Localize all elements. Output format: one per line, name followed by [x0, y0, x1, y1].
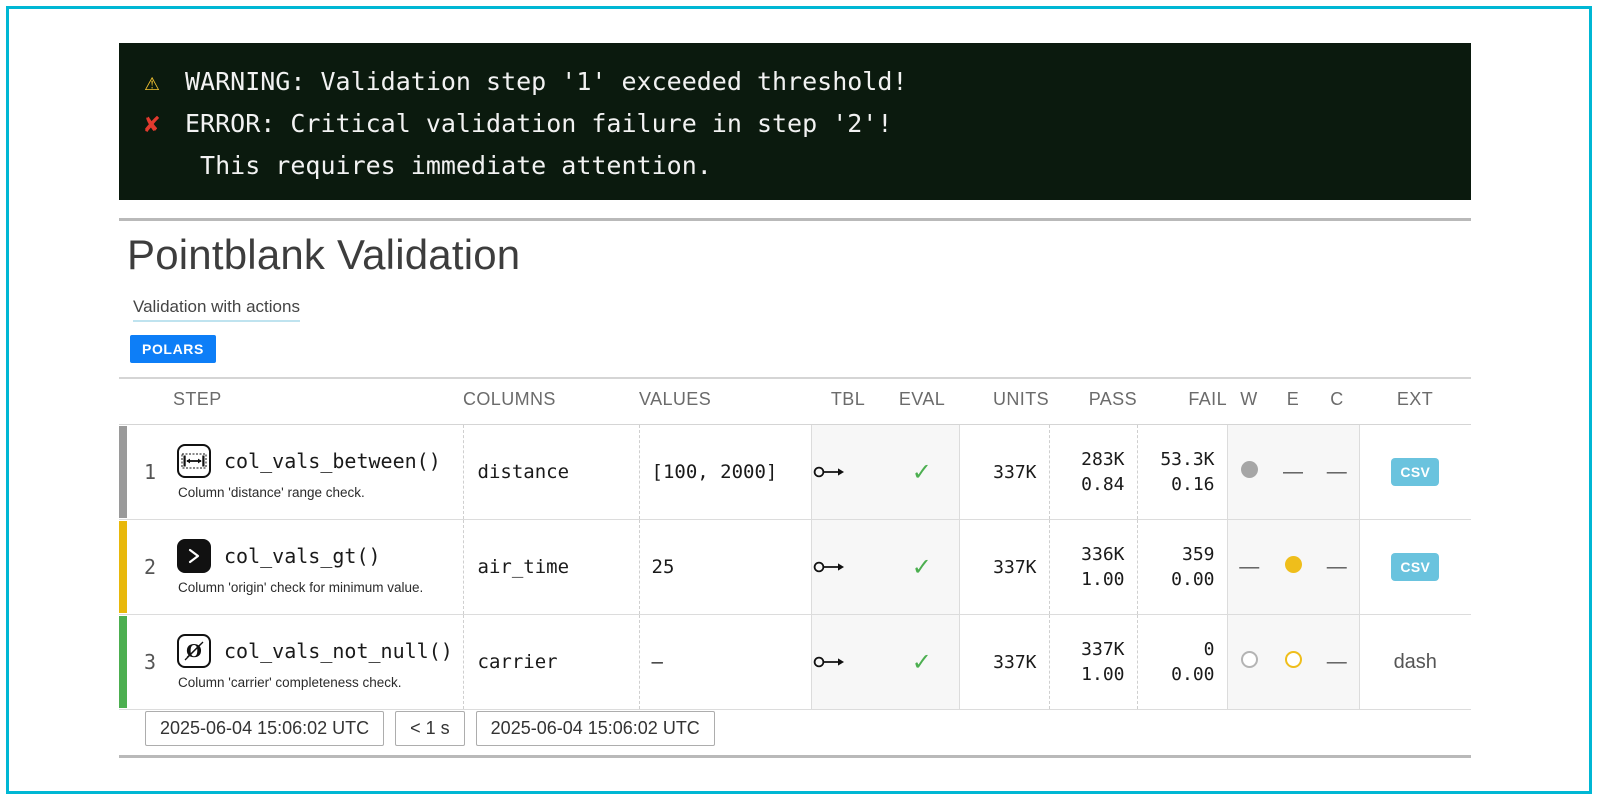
eval-cell: ✓	[885, 425, 959, 520]
tbl-cell	[811, 615, 885, 710]
row-status-bar	[119, 425, 127, 520]
units-value: 337K	[959, 520, 1049, 615]
table-row[interactable]: 1 col_vals	[119, 425, 1471, 520]
check-icon: ✓	[912, 554, 932, 581]
pass-fraction: 1.00	[1051, 567, 1125, 592]
row-index: 3	[127, 615, 173, 710]
fail-cell: 0 0.00	[1137, 615, 1227, 710]
extract-cell: CSV	[1359, 425, 1471, 520]
critical-status-cell: —	[1315, 425, 1359, 520]
header-divider-top	[119, 218, 1471, 221]
column-header-pass: PASS	[1049, 378, 1137, 425]
column-header-tbl: TBL	[811, 378, 885, 425]
circle-arrow-icon	[813, 464, 885, 480]
end-time-box: 2025-06-04 15:06:02 UTC	[476, 711, 715, 746]
column-header-e: E	[1271, 378, 1315, 425]
step-name: col_vals_not_null()	[224, 639, 453, 663]
not-null-icon: Ø	[177, 634, 211, 668]
footer-divider-bottom	[119, 755, 1471, 758]
table-footer: 2025-06-04 15:06:02 UTC < 1 s 2025-06-04…	[119, 705, 1471, 751]
fail-count: 53.3K	[1139, 447, 1215, 472]
critical-status-cell: —	[1315, 520, 1359, 615]
table-row[interactable]: 3 Ø col_vals_not_null() Column 'carrier'…	[119, 615, 1471, 710]
units-value: 337K	[959, 425, 1049, 520]
fail-count: 0	[1139, 637, 1215, 662]
critical-status-cell: —	[1315, 615, 1359, 710]
console-line-error: ✘ ERROR: Critical validation failure in …	[119, 103, 1471, 145]
units-value: 337K	[959, 615, 1049, 710]
console-warning-text: WARNING: Validation step '1' exceeded th…	[185, 61, 1471, 103]
fail-count: 359	[1139, 542, 1215, 567]
step-description: Column 'carrier' completeness check.	[177, 675, 462, 690]
gray-open-dot-icon	[1241, 651, 1258, 668]
error-status-cell: —	[1271, 425, 1315, 520]
column-header-values: VALUES	[639, 378, 811, 425]
dash-icon: —	[1327, 556, 1347, 578]
dash-icon: —	[1283, 461, 1303, 483]
extract-cell: dash	[1359, 615, 1471, 710]
values-value: 25	[639, 520, 811, 615]
pass-fraction: 0.84	[1051, 472, 1125, 497]
console-error-text: ERROR: Critical validation failure in st…	[185, 103, 1471, 145]
console-output: ⚠ WARNING: Validation step '1' exceeded …	[119, 43, 1471, 200]
csv-download-button[interactable]: CSV	[1391, 553, 1439, 581]
fail-fraction: 0.16	[1139, 472, 1215, 497]
column-header-columns: COLUMNS	[463, 378, 639, 425]
gray-filled-dot-icon	[1241, 461, 1258, 478]
pass-count: 283K	[1051, 447, 1125, 472]
fail-fraction: 0.00	[1139, 567, 1215, 592]
dash-icon: —	[1327, 651, 1347, 673]
column-header-fail: FAIL	[1137, 378, 1227, 425]
pass-cell: 336K 1.00	[1049, 520, 1137, 615]
eval-cell: ✓	[885, 520, 959, 615]
greater-than-icon	[177, 539, 211, 573]
column-header-w: W	[1227, 378, 1271, 425]
step-name: col_vals_gt()	[224, 544, 381, 568]
error-status-cell	[1271, 615, 1315, 710]
dash-icon: —	[1239, 556, 1259, 578]
table-header-row: STEP COLUMNS VALUES TBL EVAL UNITS PASS …	[119, 378, 1471, 425]
column-header-units: UNITS	[959, 378, 1049, 425]
values-value: –	[639, 615, 811, 710]
backend-badge-polars: POLARS	[130, 335, 216, 363]
pass-fraction: 1.00	[1051, 662, 1125, 687]
values-value: [100, 2000]	[639, 425, 811, 520]
step-description: Column 'distance' range check.	[177, 485, 462, 500]
column-header-c: C	[1315, 378, 1359, 425]
warning-status-cell	[1227, 425, 1271, 520]
page-title: Pointblank Validation	[127, 231, 520, 279]
warning-triangle-icon: ⚠	[119, 61, 185, 103]
eval-cell: ✓	[885, 615, 959, 710]
step-description: Column 'origin' check for minimum value.	[177, 580, 462, 595]
duration-box: < 1 s	[395, 711, 465, 746]
tbl-cell	[811, 425, 885, 520]
columns-value: carrier	[463, 615, 639, 710]
step-cell: col_vals_gt() Column 'origin' check for …	[173, 520, 463, 615]
row-index: 1	[127, 425, 173, 520]
between-icon	[177, 444, 211, 478]
column-header-ext: EXT	[1359, 378, 1471, 425]
fail-fraction: 0.00	[1139, 662, 1215, 687]
dash-icon: dash	[1394, 651, 1437, 673]
check-icon: ✓	[912, 649, 932, 676]
step-cell: Ø col_vals_not_null() Column 'carrier' c…	[173, 615, 463, 710]
tbl-cell	[811, 520, 885, 615]
row-status-bar	[119, 615, 127, 710]
column-header-step: STEP	[173, 378, 463, 425]
pass-count: 337K	[1051, 637, 1125, 662]
row-index: 2	[127, 520, 173, 615]
fail-cell: 359 0.00	[1137, 520, 1227, 615]
console-detail-text: This requires immediate attention.	[185, 145, 1471, 187]
validation-table: STEP COLUMNS VALUES TBL EVAL UNITS PASS …	[119, 377, 1471, 710]
step-cell: col_vals_between() Column 'distance' ran…	[173, 425, 463, 520]
page-subtitle: Validation with actions	[133, 297, 300, 322]
columns-value: distance	[463, 425, 639, 520]
console-line-warning: ⚠ WARNING: Validation step '1' exceeded …	[119, 61, 1471, 103]
csv-download-button[interactable]: CSV	[1391, 458, 1439, 486]
warning-status-cell: —	[1227, 520, 1271, 615]
circle-arrow-icon	[813, 654, 885, 670]
start-time-box: 2025-06-04 15:06:02 UTC	[145, 711, 384, 746]
table-row[interactable]: 2 col_vals_gt() Column 'origin' check fo…	[119, 520, 1471, 615]
error-status-cell	[1271, 520, 1315, 615]
row-status-bar	[119, 520, 127, 615]
warning-status-cell	[1227, 615, 1271, 710]
fail-cell: 53.3K 0.16	[1137, 425, 1227, 520]
yellow-filled-dot-icon	[1285, 556, 1302, 573]
yellow-open-dot-icon	[1285, 651, 1302, 668]
column-header-eval: EVAL	[885, 378, 959, 425]
step-name: col_vals_between()	[224, 449, 441, 473]
pass-cell: 283K 0.84	[1049, 425, 1137, 520]
extract-cell: CSV	[1359, 520, 1471, 615]
dash-icon: —	[1327, 461, 1347, 483]
check-icon: ✓	[912, 459, 932, 486]
circle-arrow-icon	[813, 559, 885, 575]
console-line-detail: This requires immediate attention.	[119, 145, 1471, 187]
columns-value: air_time	[463, 520, 639, 615]
page-frame: ⚠ WARNING: Validation step '1' exceeded …	[6, 6, 1592, 794]
pass-cell: 337K 1.00	[1049, 615, 1137, 710]
pass-count: 336K	[1051, 542, 1125, 567]
error-cross-icon: ✘	[119, 103, 185, 145]
